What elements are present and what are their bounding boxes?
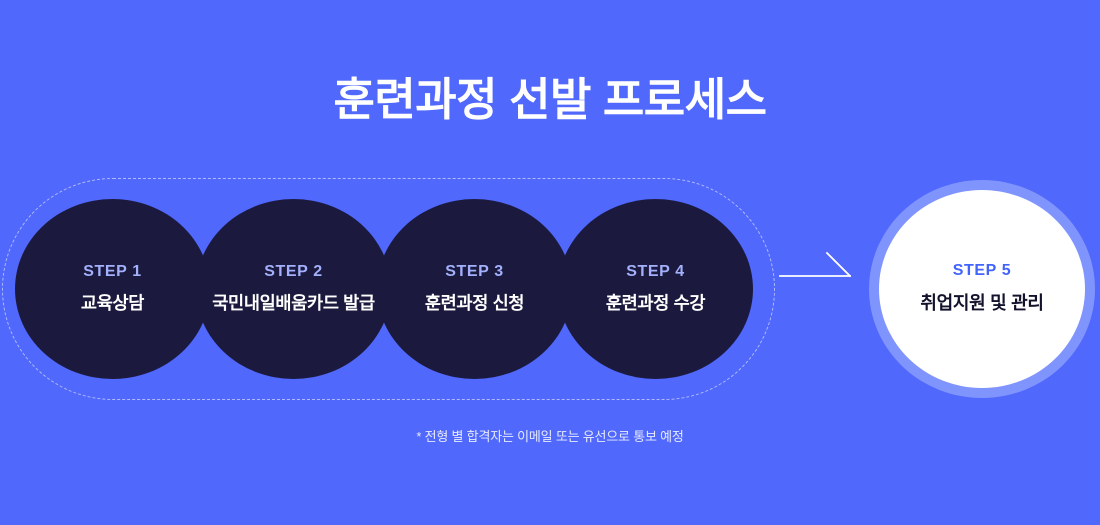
step-circle-4[interactable]: STEP 4 훈련과정 수강 (558, 199, 753, 379)
step-4-title: 훈련과정 수강 (590, 291, 721, 316)
step-4-kicker: STEP 4 (626, 263, 684, 281)
step-1-title: 교육상담 (65, 291, 160, 316)
step-circle-1[interactable]: STEP 1 교육상담 (15, 199, 210, 379)
process-diagram: 훈련과정 선발 프로세스 STEP 1 교육상담 STEP 2 국민내일배움카드… (0, 0, 1100, 525)
step-circle-5[interactable]: STEP 5 취업지원 및 관리 (869, 180, 1095, 398)
step-1-kicker: STEP 1 (83, 263, 141, 281)
step-2-title: 국민내일배움카드 발급 (196, 291, 391, 316)
step-3-kicker: STEP 3 (445, 263, 503, 281)
footnote-text: * 전형 별 합격자는 이메일 또는 유선으로 통보 예정 (0, 426, 1100, 445)
arrow-right-icon (778, 248, 870, 292)
step-circle-3[interactable]: STEP 3 훈련과정 신청 (377, 199, 572, 379)
step-5-title: 취업지원 및 관리 (920, 291, 1043, 316)
step-3-title: 훈련과정 신청 (409, 291, 540, 316)
step-5-kicker: STEP 5 (953, 262, 1011, 280)
step-5-body: STEP 5 취업지원 및 관리 (879, 190, 1085, 388)
step-2-kicker: STEP 2 (264, 263, 322, 281)
step-circle-2[interactable]: STEP 2 국민내일배움카드 발급 (196, 199, 391, 379)
